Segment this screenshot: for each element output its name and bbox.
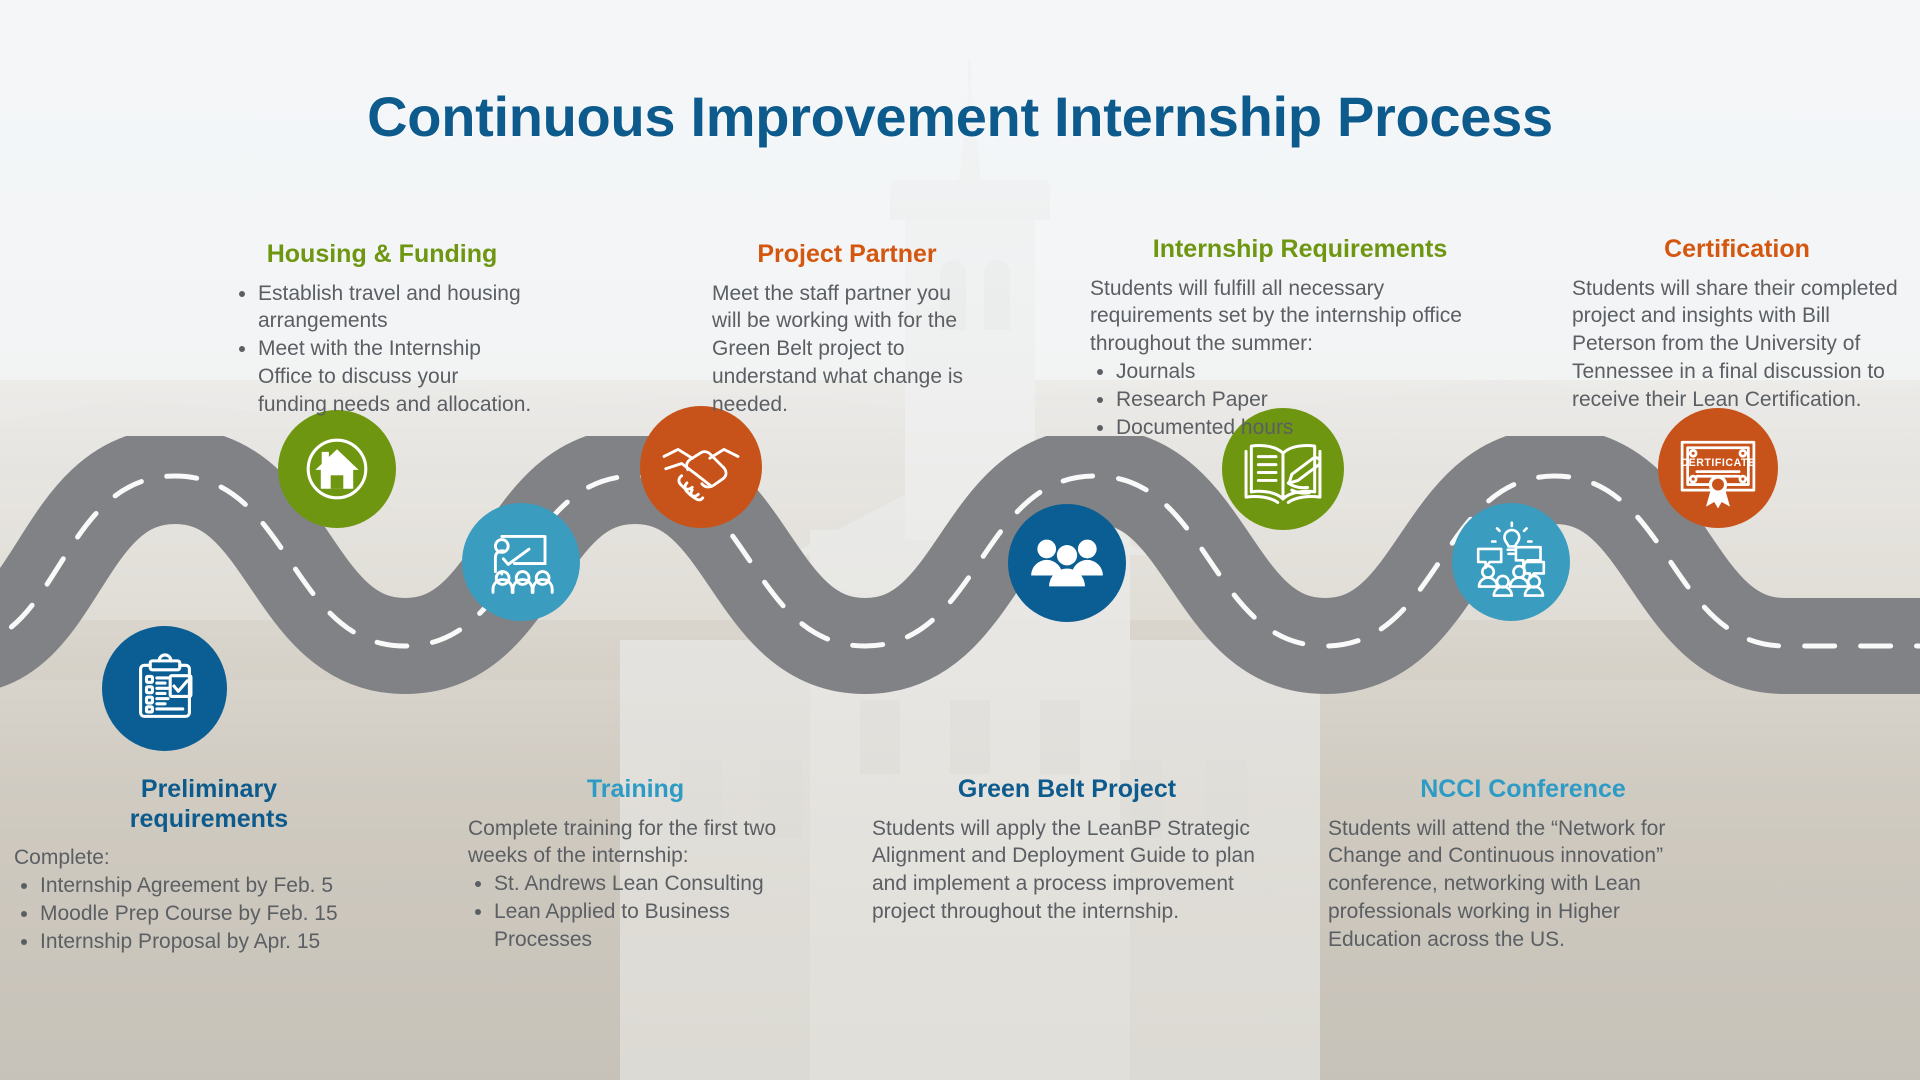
step-heading-preliminary-requirements: Preliminary requirements bbox=[14, 775, 404, 834]
step-heading-ncci-conference: NCCI Conference bbox=[1328, 775, 1718, 805]
people-group-icon bbox=[1028, 524, 1106, 602]
step-heading-green-belt-project: Green Belt Project bbox=[872, 775, 1262, 805]
step-body-project-partner: Meet the staff partner you will be worki… bbox=[712, 280, 982, 420]
step-bullet-list-housing-and-funding: Establish travel and housing arrangement… bbox=[232, 280, 532, 420]
list-item: Documented hours bbox=[1116, 414, 1510, 442]
step-intro: Complete: bbox=[14, 844, 404, 872]
list-item: Meet with the Internship Office to discu… bbox=[258, 335, 532, 419]
step-body-certification: Students will share their completed proj… bbox=[1572, 275, 1902, 415]
step-heading-training: Training bbox=[468, 775, 803, 805]
list-item: Journals bbox=[1116, 358, 1510, 386]
step-icon-project-partner[interactable] bbox=[640, 406, 762, 528]
step-body-internship-requirements: Students will fulfill all necessary requ… bbox=[1090, 275, 1510, 443]
certificate-label: CERTIFICATE bbox=[1680, 457, 1755, 469]
step-icon-ncci-conference[interactable] bbox=[1452, 503, 1570, 621]
step-icon-green-belt-project[interactable] bbox=[1008, 504, 1126, 622]
page-title: Continuous Improvement Internship Proces… bbox=[0, 84, 1920, 149]
step-block-housing-and-funding: Housing & Funding Establish travel and h… bbox=[232, 240, 532, 419]
step-icon-training[interactable] bbox=[462, 503, 580, 621]
step-icon-housing-and-funding[interactable] bbox=[278, 410, 396, 528]
step-intro: Students will fulfill all necessary requ… bbox=[1090, 275, 1510, 359]
step-intro: Complete training for the first two week… bbox=[468, 815, 803, 871]
step-body-housing-and-funding: Establish travel and housing arrangement… bbox=[232, 280, 532, 420]
list-item: Internship Agreement by Feb. 5 bbox=[40, 872, 404, 900]
house-icon bbox=[292, 424, 382, 514]
step-icon-preliminary-requirements[interactable] bbox=[102, 626, 227, 751]
step-bullet-list-internship-requirements: Journals Research Paper Documented hours bbox=[1090, 358, 1510, 442]
step-bullet-list-preliminary-requirements: Internship Agreement by Feb. 5 Moodle Pr… bbox=[14, 872, 404, 956]
handshake-icon bbox=[657, 423, 745, 511]
step-block-ncci-conference: NCCI Conference Students will attend the… bbox=[1328, 775, 1718, 954]
step-block-certification: Certification Students will share their … bbox=[1572, 235, 1902, 414]
step-bullet-list-training: St. Andrews Lean Consulting Lean Applied… bbox=[468, 870, 803, 954]
clipboard-checklist-icon bbox=[128, 652, 202, 726]
step-paragraph: Meet the staff partner you will be worki… bbox=[712, 280, 982, 420]
step-paragraph: Students will apply the LeanBP Strategic… bbox=[872, 815, 1262, 927]
step-heading-project-partner: Project Partner bbox=[712, 240, 982, 270]
step-block-internship-requirements: Internship Requirements Students will fu… bbox=[1090, 235, 1510, 442]
infographic-canvas: CERTIFICATE Continuous Improvement Inter… bbox=[0, 0, 1920, 1080]
list-item: Establish travel and housing arrangement… bbox=[258, 280, 532, 336]
list-item: Lean Applied to Business Processes bbox=[494, 898, 803, 954]
step-paragraph: Students will attend the “Network for Ch… bbox=[1328, 815, 1718, 955]
list-item: Research Paper bbox=[1116, 386, 1510, 414]
step-heading-certification: Certification bbox=[1572, 235, 1902, 265]
step-body-preliminary-requirements: Complete: Internship Agreement by Feb. 5… bbox=[14, 844, 404, 956]
step-paragraph: Students will share their completed proj… bbox=[1572, 275, 1902, 415]
step-body-training: Complete training for the first two week… bbox=[468, 815, 803, 955]
certificate-icon: CERTIFICATE bbox=[1672, 422, 1764, 514]
step-heading-housing-and-funding: Housing & Funding bbox=[232, 240, 532, 270]
step-icon-certification[interactable]: CERTIFICATE bbox=[1658, 408, 1778, 528]
training-presentation-icon bbox=[481, 522, 561, 602]
list-item: St. Andrews Lean Consulting bbox=[494, 870, 803, 898]
step-block-training: Training Complete training for the first… bbox=[468, 775, 803, 954]
list-item: Internship Proposal by Apr. 15 bbox=[40, 928, 404, 956]
step-body-green-belt-project: Students will apply the LeanBP Strategic… bbox=[872, 815, 1262, 927]
list-item: Moodle Prep Course by Feb. 15 bbox=[40, 900, 404, 928]
step-heading-internship-requirements: Internship Requirements bbox=[1090, 235, 1510, 265]
step-block-green-belt-project: Green Belt Project Students will apply t… bbox=[872, 775, 1262, 926]
step-block-project-partner: Project Partner Meet the staff partner y… bbox=[712, 240, 982, 419]
step-body-ncci-conference: Students will attend the “Network for Ch… bbox=[1328, 815, 1718, 955]
step-block-preliminary-requirements: Preliminary requirements Complete: Inter… bbox=[14, 775, 404, 956]
certificate-ribbon bbox=[1706, 475, 1730, 508]
networking-ideas-icon bbox=[1470, 521, 1552, 603]
